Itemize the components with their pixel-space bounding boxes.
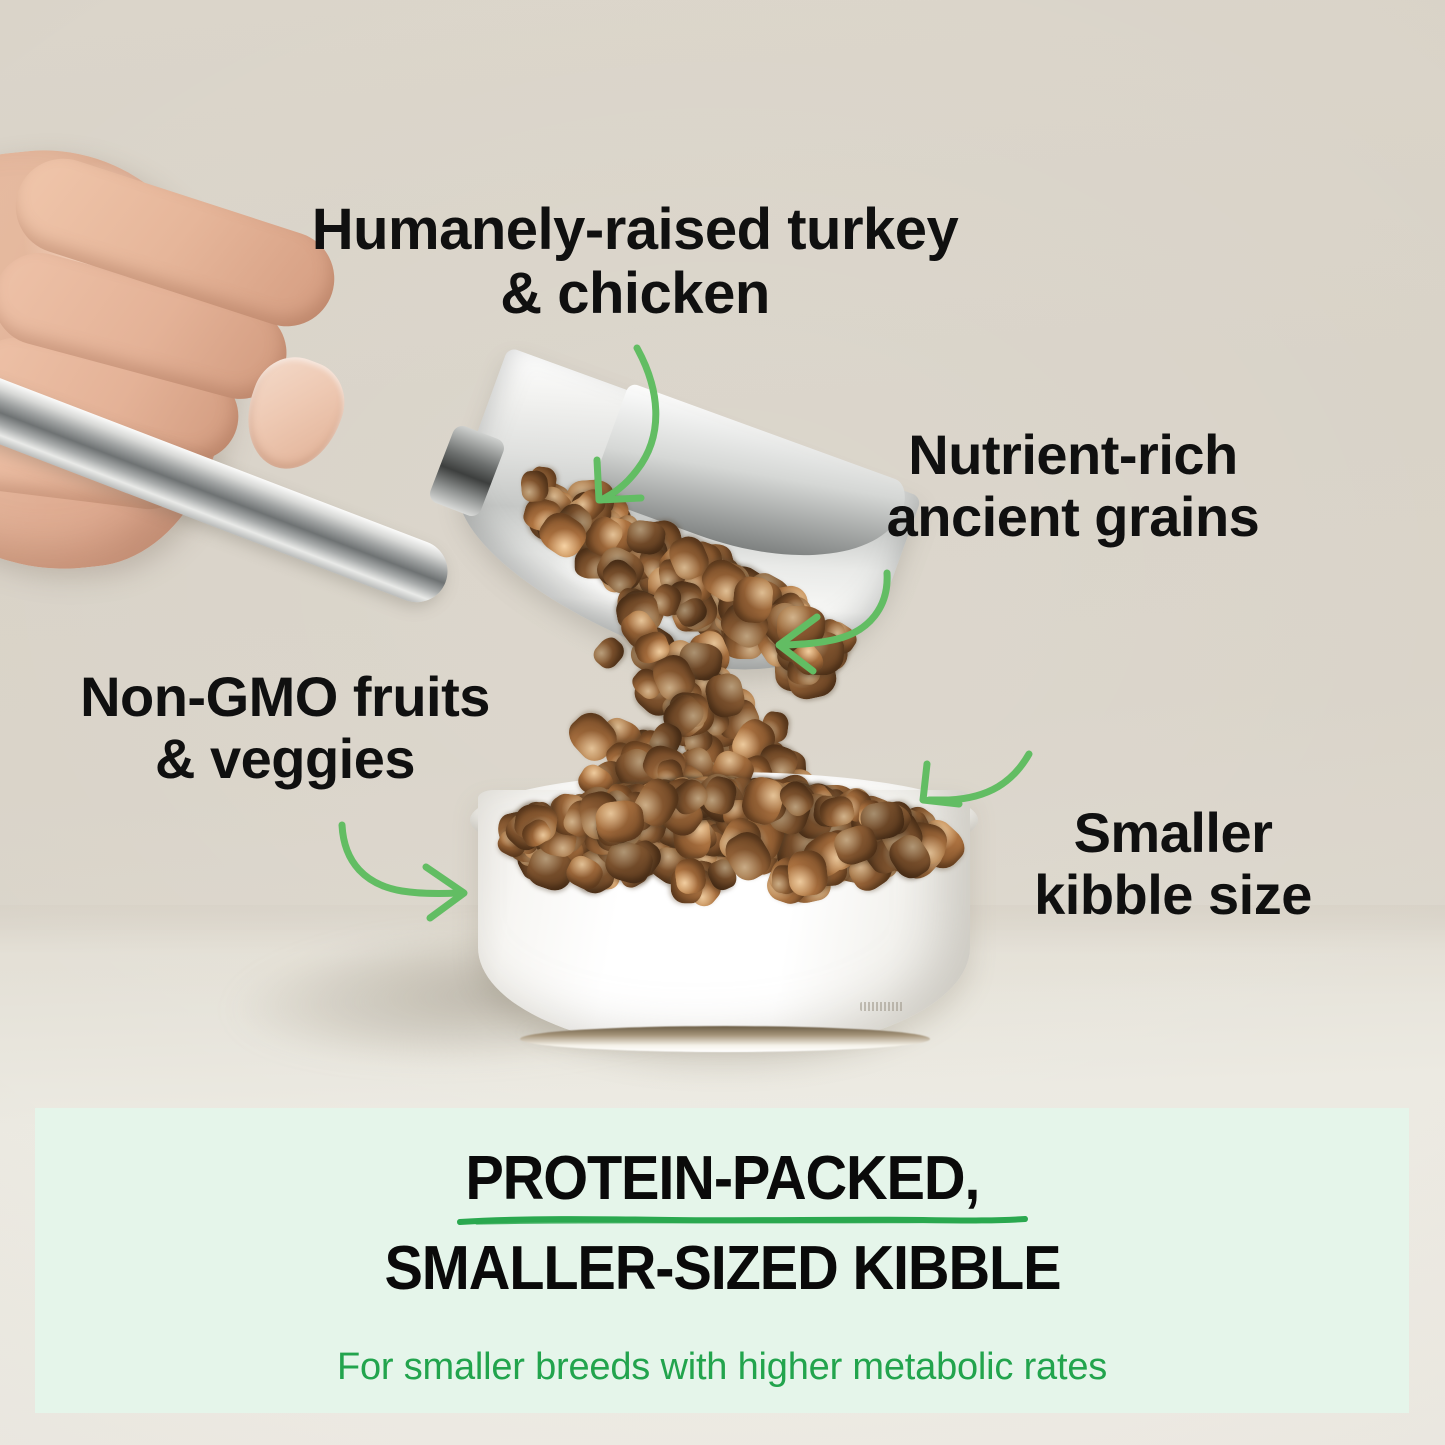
kibble-piece [520,470,549,503]
curved-arrow-left-grains [765,565,940,685]
callout-line-2: kibble size [998,864,1348,926]
callout-humanely-raised-turkey-chicken: Humanely-raised turkey & chicken [255,198,1015,326]
callout-smaller-kibble-size: Smaller kibble size [998,802,1348,925]
banner-subtitle: For smaller breeds with higher metabolic… [337,1346,1107,1389]
bowl-foot [520,1026,930,1052]
curved-arrow-down-left-turkey [555,330,725,520]
callout-line-1: Humanely-raised turkey [255,198,1015,262]
banner-headline-line-2: SMALLER-SIZED KIBBLE [384,1238,1060,1300]
curved-arrow-down-left-kibble [905,742,1035,840]
callout-nutrient-rich-ancient-grains: Nutrient-rich ancient grains [838,424,1308,547]
banner-headline-line-1-text: PROTEIN-PACKED, [465,1144,979,1213]
callout-line-1: Smaller [998,802,1348,864]
curved-arrow-right-veggies [330,815,490,930]
callout-line-2: ancient grains [838,486,1308,548]
callout-non-gmo-fruits-veggies: Non-GMO fruits & veggies [20,666,550,789]
bowl-brand-mark [860,1002,904,1011]
callout-line-2: & chicken [255,262,1015,326]
bottom-banner: PROTEIN-PACKED, SMALLER-SIZED KIBBLE For… [35,1108,1409,1413]
callout-line-1: Nutrient-rich [838,424,1308,486]
banner-headline-line-1: PROTEIN-PACKED, [465,1148,979,1210]
callout-line-2: & veggies [20,728,550,790]
headline-underline-stroke [458,1215,1027,1225]
callout-line-1: Non-GMO fruits [20,666,550,728]
